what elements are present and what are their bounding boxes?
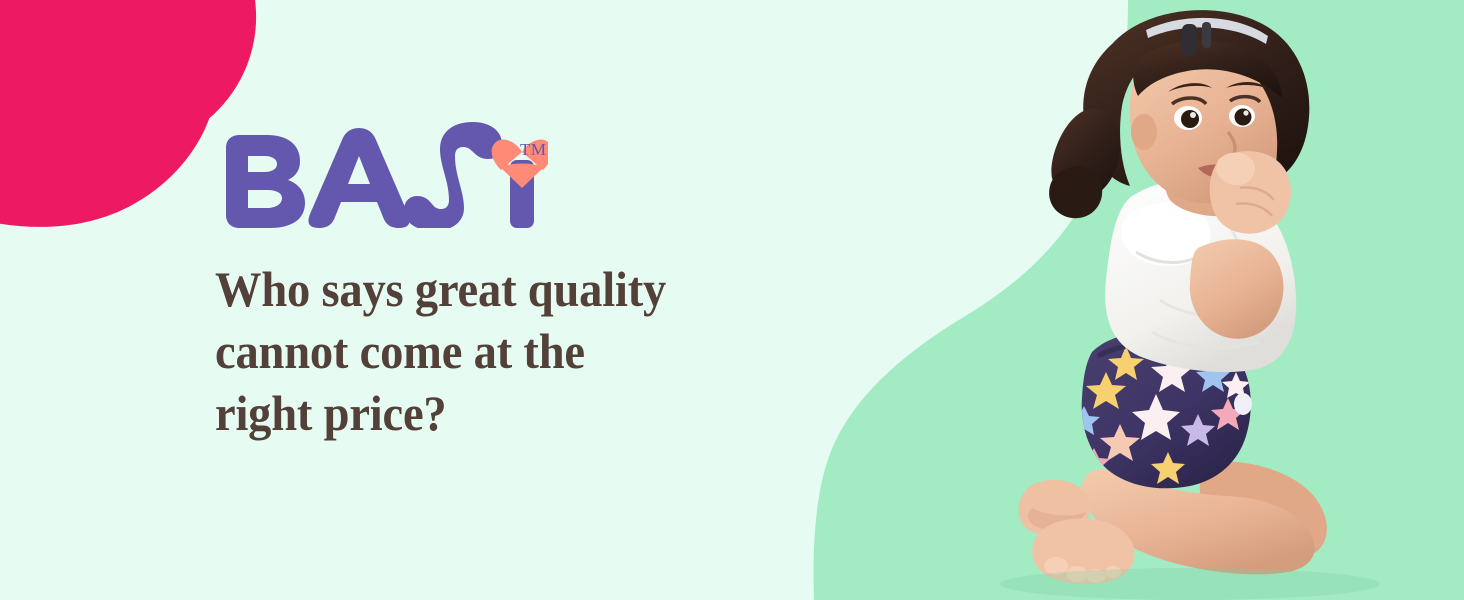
toddler-ear [1131, 114, 1157, 150]
trademark-symbol: TM [520, 140, 547, 160]
promo-banner: TM Who says great quality cannot come at… [0, 0, 1464, 600]
headline-line-1: Who says great quality [215, 258, 810, 320]
logo-letter-b [226, 135, 305, 228]
brand-logo: TM [218, 118, 548, 228]
headline-text: Who says great quality cannot come at th… [215, 258, 810, 444]
headline-line-2: cannot come at the [215, 320, 810, 382]
diaper-snap [1234, 393, 1252, 415]
logo-letter-a [308, 128, 409, 228]
photo-ground-shadow [1000, 568, 1380, 600]
logo-wordmark [218, 118, 548, 228]
logo-letter-s [404, 122, 502, 228]
toddler-illustration [960, 0, 1464, 600]
heart-icon-base [501, 164, 543, 189]
product-photo [960, 0, 1464, 600]
headline-line-3: right price? [215, 382, 810, 444]
